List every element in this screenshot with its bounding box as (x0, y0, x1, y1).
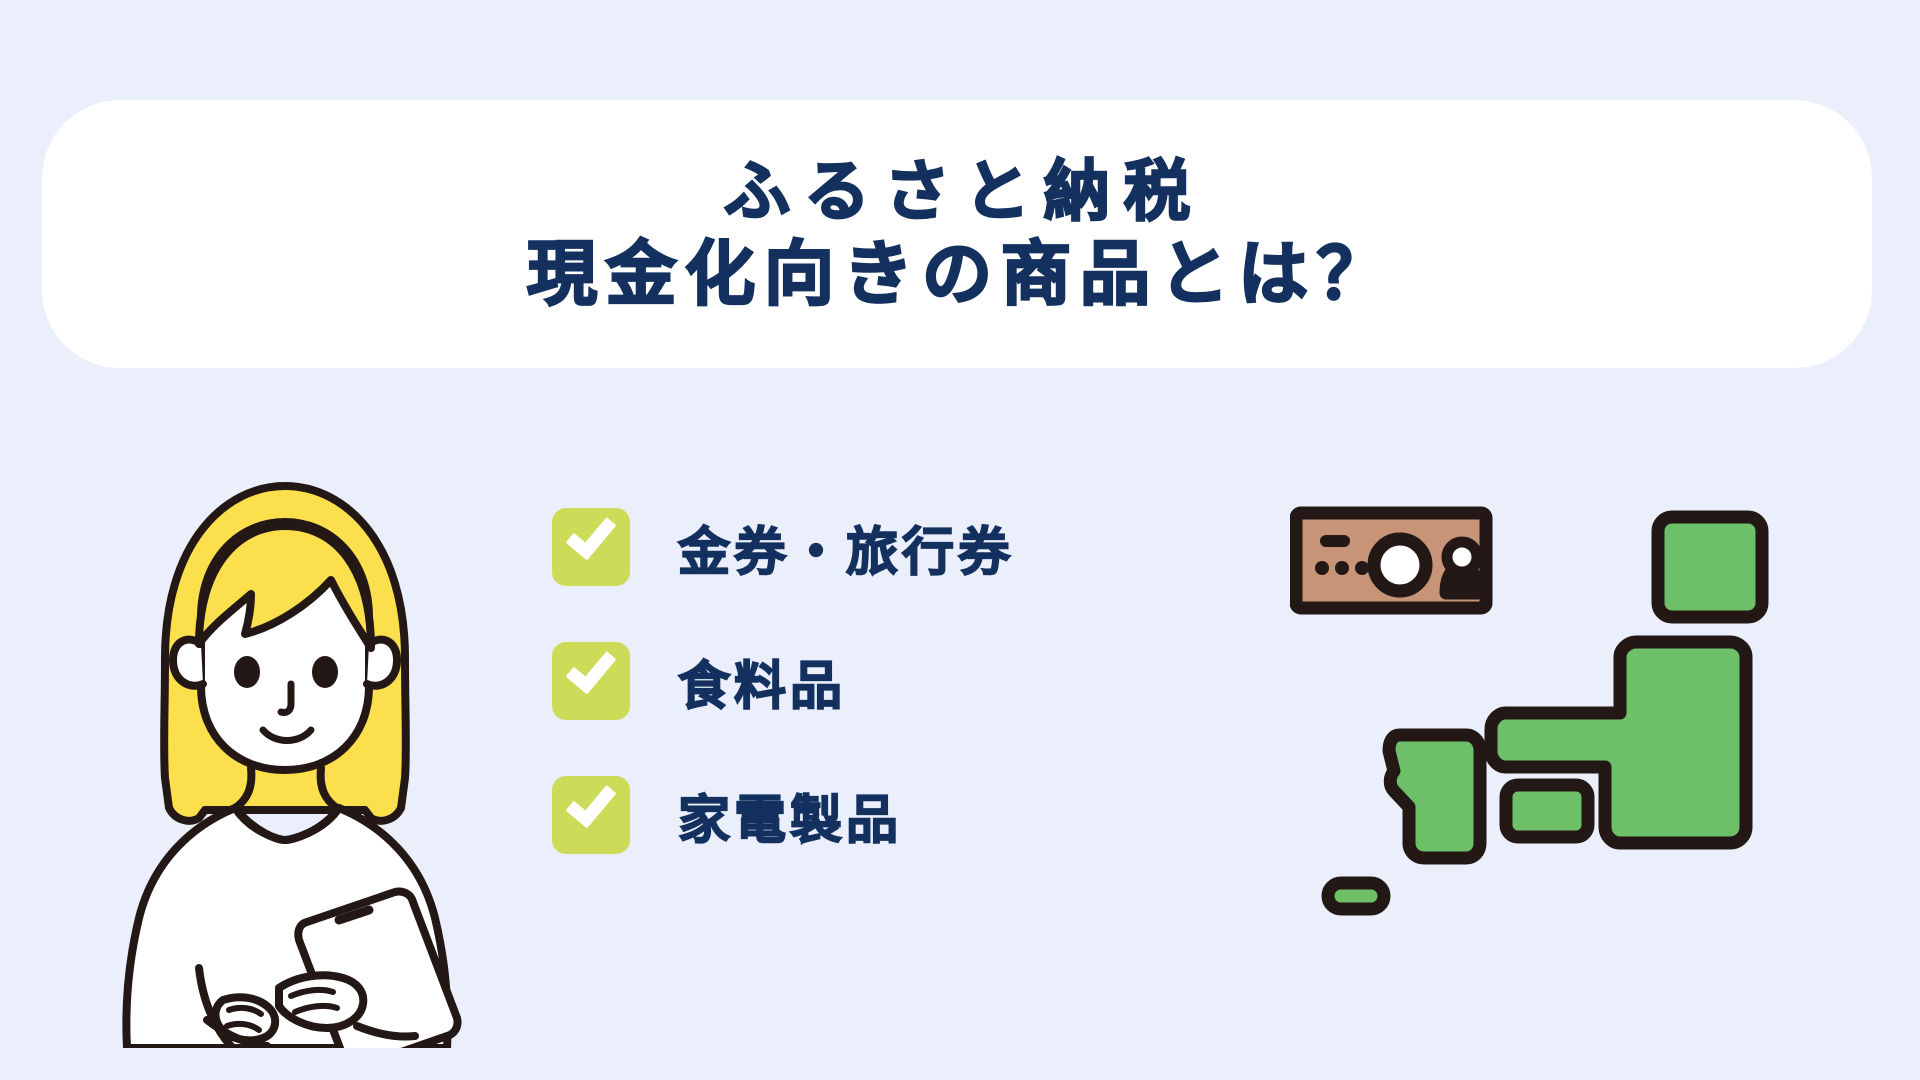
hand-right (279, 975, 363, 1028)
parcel-dot-1 (1315, 561, 1329, 575)
checklist-item-label-0: 金券・旅行券 (678, 510, 1014, 585)
eye-left (234, 656, 260, 688)
region-kyushu (1389, 735, 1480, 858)
checkbox-checked-icon[interactable] (552, 642, 630, 720)
region-okinawa (1328, 883, 1384, 909)
checklist-item-2[interactable]: 家電製品 (552, 776, 1014, 854)
checkmark-icon (565, 507, 616, 560)
region-shikoku (1506, 785, 1588, 837)
checkmark-icon (565, 641, 616, 694)
japan-map-blocks-illustration (1290, 505, 1810, 925)
parcel-person-head (1447, 542, 1477, 572)
parcel-dot-3 (1355, 561, 1369, 575)
checkmark-icon (565, 775, 616, 828)
checklist-item-label-1: 食料品 (678, 644, 846, 719)
parcel-box-icon (1296, 513, 1486, 608)
checkbox-checked-icon[interactable] (552, 776, 630, 854)
title-banner: ふるさと納税 現金化向きの商品とは？ (42, 100, 1872, 368)
parcel-circle-glyph (1374, 539, 1426, 591)
woman-with-smartphone-illustration (95, 448, 475, 1048)
eye-right (312, 656, 338, 688)
parcel-dash-glyph (1320, 535, 1350, 547)
checklist-item-1[interactable]: 食料品 (552, 642, 1014, 720)
region-hokkaido (1658, 517, 1762, 617)
product-checklist: 金券・旅行券 食料品 家電製品 (552, 508, 1014, 854)
page-title-line-2: 現金化向きの商品とは？ (518, 233, 1396, 316)
checklist-item-0[interactable]: 金券・旅行券 (552, 508, 1014, 586)
parcel-dot-2 (1335, 561, 1349, 575)
checklist-item-label-2: 家電製品 (678, 778, 902, 853)
checkbox-checked-icon[interactable] (552, 508, 630, 586)
page-title-line-1: ふるさと納税 (710, 153, 1204, 231)
